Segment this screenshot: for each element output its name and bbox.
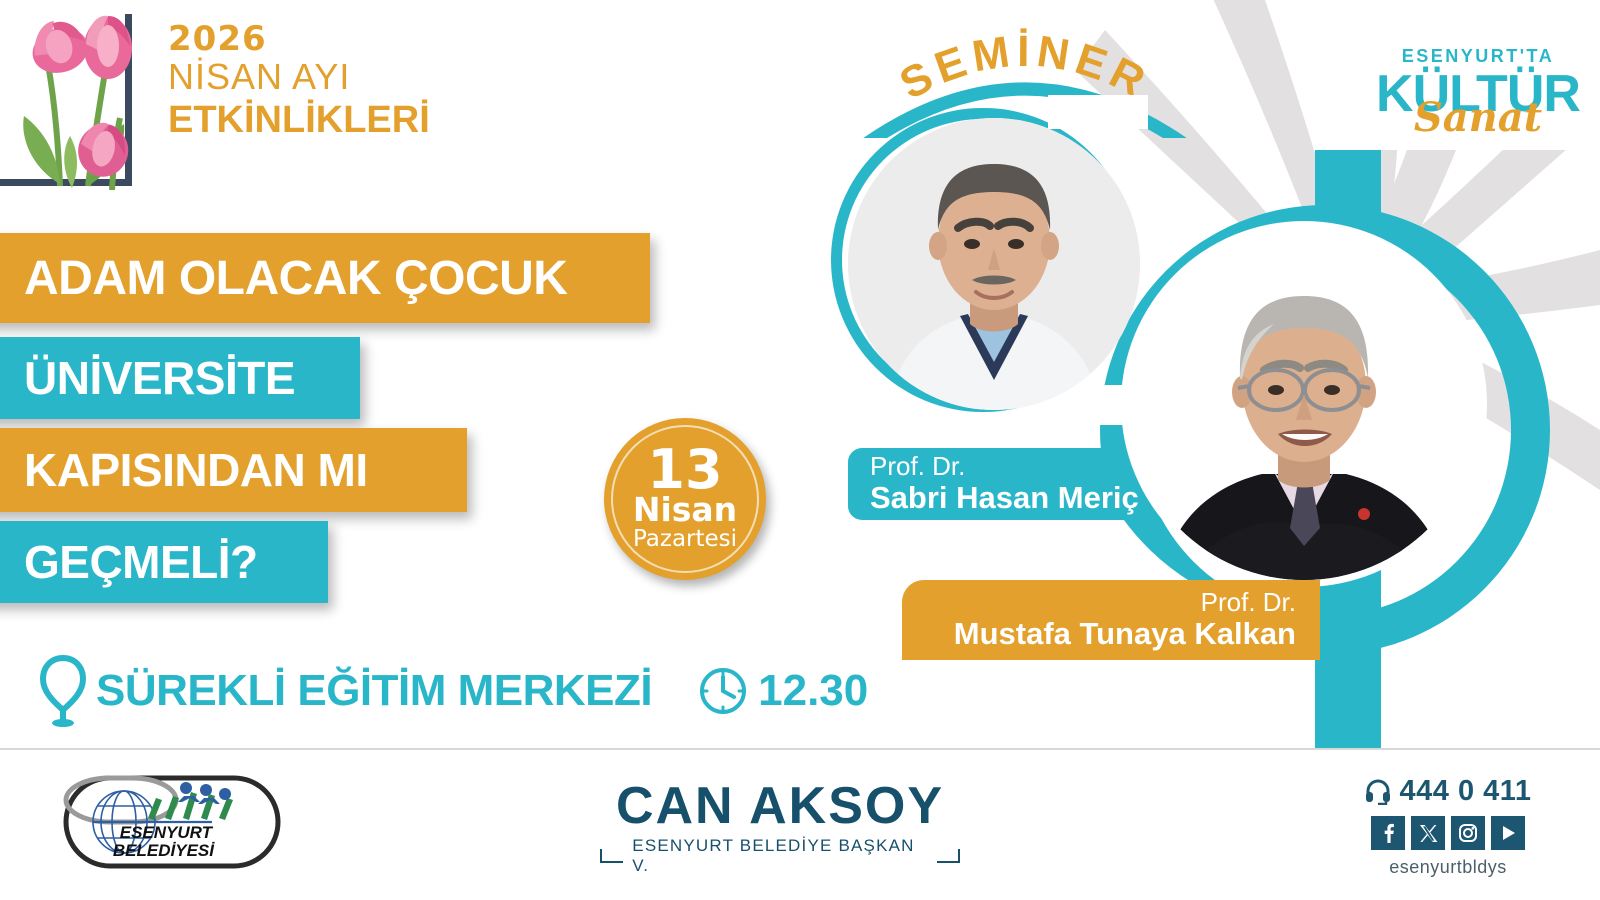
left-bracket — [600, 849, 623, 863]
venue-name: SÜREKLİ EĞİTİM MERKEZİ — [96, 666, 652, 716]
date-badge: 13 Nisan Pazartesi — [604, 418, 766, 580]
mayor-name: CAN AKSOY — [600, 778, 960, 834]
phone-row[interactable]: 444 0 411 — [1348, 775, 1548, 808]
speaker-name-2: Mustafa Tunaya Kalkan — [954, 616, 1296, 652]
date-weekday: Pazartesi — [633, 527, 737, 551]
title-band-1-text: ADAM OLACAK ÇOCUK — [24, 251, 567, 306]
mayor-logo: CAN AKSOY ESENYURT BELEDİYE BAŞKAN V. — [600, 778, 960, 876]
header-year: 2026 — [168, 22, 430, 56]
venue-row: SÜREKLİ EĞİTİM MERKEZİ 12.30 — [40, 650, 868, 732]
footer-divider — [0, 748, 1600, 750]
event-time: 12.30 — [758, 666, 868, 716]
title-band-4: GEÇMELİ? — [0, 521, 328, 603]
globe-people-icon: ESENYURT BELEDİYESİ — [62, 772, 282, 872]
title-band-2: ÜNİVERSİTE — [0, 337, 360, 419]
tulips-icon — [2, 8, 182, 193]
kultur-sanat-logo: ESENYURT'TA KÜLTÜR Sanat — [1358, 46, 1598, 135]
mayor-subtitle: ESENYURT BELEDİYE BAŞKAN V. — [623, 836, 936, 876]
social-row — [1348, 816, 1548, 850]
right-bracket — [937, 849, 960, 863]
speaker-title-1: Prof. Dr. — [870, 452, 965, 480]
title-band-3: KAPISINDAN MI — [0, 428, 467, 512]
event-poster: ESENYURT'TA KÜLTÜR Sanat — [0, 0, 1600, 900]
municipality-line-1: ESENYURT — [120, 823, 214, 842]
speaker-title-2: Prof. Dr. — [1201, 588, 1296, 616]
phone-number: 444 0 411 — [1400, 775, 1532, 808]
esenyurt-belediyesi-logo: ESENYURT BELEDİYESİ — [62, 772, 282, 877]
date-month: Nisan — [633, 493, 737, 527]
header-block: 2026 NİSAN AYI ETKİNLİKLERİ — [0, 0, 430, 195]
speaker-portrait-icon — [848, 118, 1140, 410]
title-band-2-text: ÜNİVERSİTE — [24, 351, 295, 405]
title-band-3-text: KAPISINDAN MI — [24, 443, 368, 497]
instagram-icon[interactable] — [1451, 816, 1485, 850]
location-pin-icon — [40, 654, 86, 728]
headset-icon — [1365, 779, 1391, 805]
social-handle: esenyurtbldys — [1348, 857, 1548, 878]
clock-icon — [698, 666, 748, 716]
speaker-name-bar-1: Prof. Dr. Sabri Hasan Meriç — [848, 448, 1178, 520]
speaker-portrait-icon — [1128, 228, 1480, 580]
contact-block: 444 0 411 — [1348, 775, 1548, 878]
title-band-1: ADAM OLACAK ÇOCUK — [0, 233, 650, 323]
youtube-icon[interactable] — [1491, 816, 1525, 850]
header-text: 2026 NİSAN AYI ETKİNLİKLERİ — [168, 22, 430, 142]
header-events: ETKİNLİKLERİ — [168, 98, 430, 142]
header-month: NİSAN AYI — [168, 56, 430, 98]
title-band-4-text: GEÇMELİ? — [24, 535, 258, 589]
x-twitter-icon[interactable] — [1411, 816, 1445, 850]
brand-kicker: ESENYURT'TA — [1358, 46, 1598, 67]
speaker-name-1: Sabri Hasan Meriç — [870, 480, 1139, 516]
municipality-line-2: BELEDİYESİ — [113, 841, 215, 860]
speaker-name-bar-2: Prof. Dr. Mustafa Tunaya Kalkan — [902, 580, 1320, 660]
date-day: 13 — [647, 447, 722, 493]
facebook-icon[interactable] — [1371, 816, 1405, 850]
